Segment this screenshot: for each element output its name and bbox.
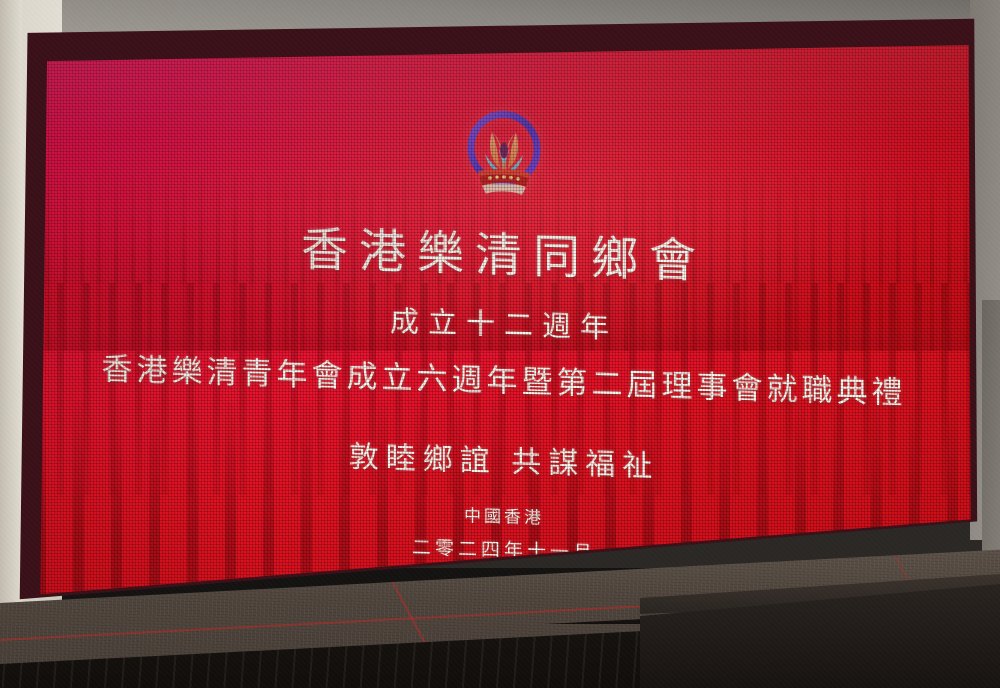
led-screen: 香港樂清同鄉會 成立十二週年 香港樂清青年會成立六週年暨第二屆理事會就職典禮 敦…	[24, 36, 984, 608]
screen-slogan: 敦睦鄉誼 共謀福祉	[349, 432, 660, 485]
screen-subtitle-2: 香港樂清青年會成立六週年暨第二屆理事會就職典禮	[102, 343, 907, 412]
screen-place: 中國香港	[464, 501, 544, 528]
screen-content: 香港樂清同鄉會 成立十二週年 香港樂清青年會成立六週年暨第二屆理事會就職典禮 敦…	[24, 36, 984, 608]
wall-shadow	[0, 0, 22, 640]
wall-right-lower	[982, 300, 1000, 560]
screen-title: 香港樂清同鄉會	[301, 210, 707, 291]
screen-date: 二零二四年十一月	[412, 533, 596, 566]
photo-scene: 香港樂清同鄉會 成立十二週年 香港樂清青年會成立六週年暨第二屆理事會就職典禮 敦…	[0, 0, 1000, 688]
association-emblem-icon	[452, 97, 556, 204]
led-screen-frame: 香港樂清同鄉會 成立十二週年 香港樂清青年會成立六週年暨第二屆理事會就職典禮 敦…	[8, 14, 984, 604]
screen-subtitle-1: 成立十二週年	[390, 298, 618, 347]
